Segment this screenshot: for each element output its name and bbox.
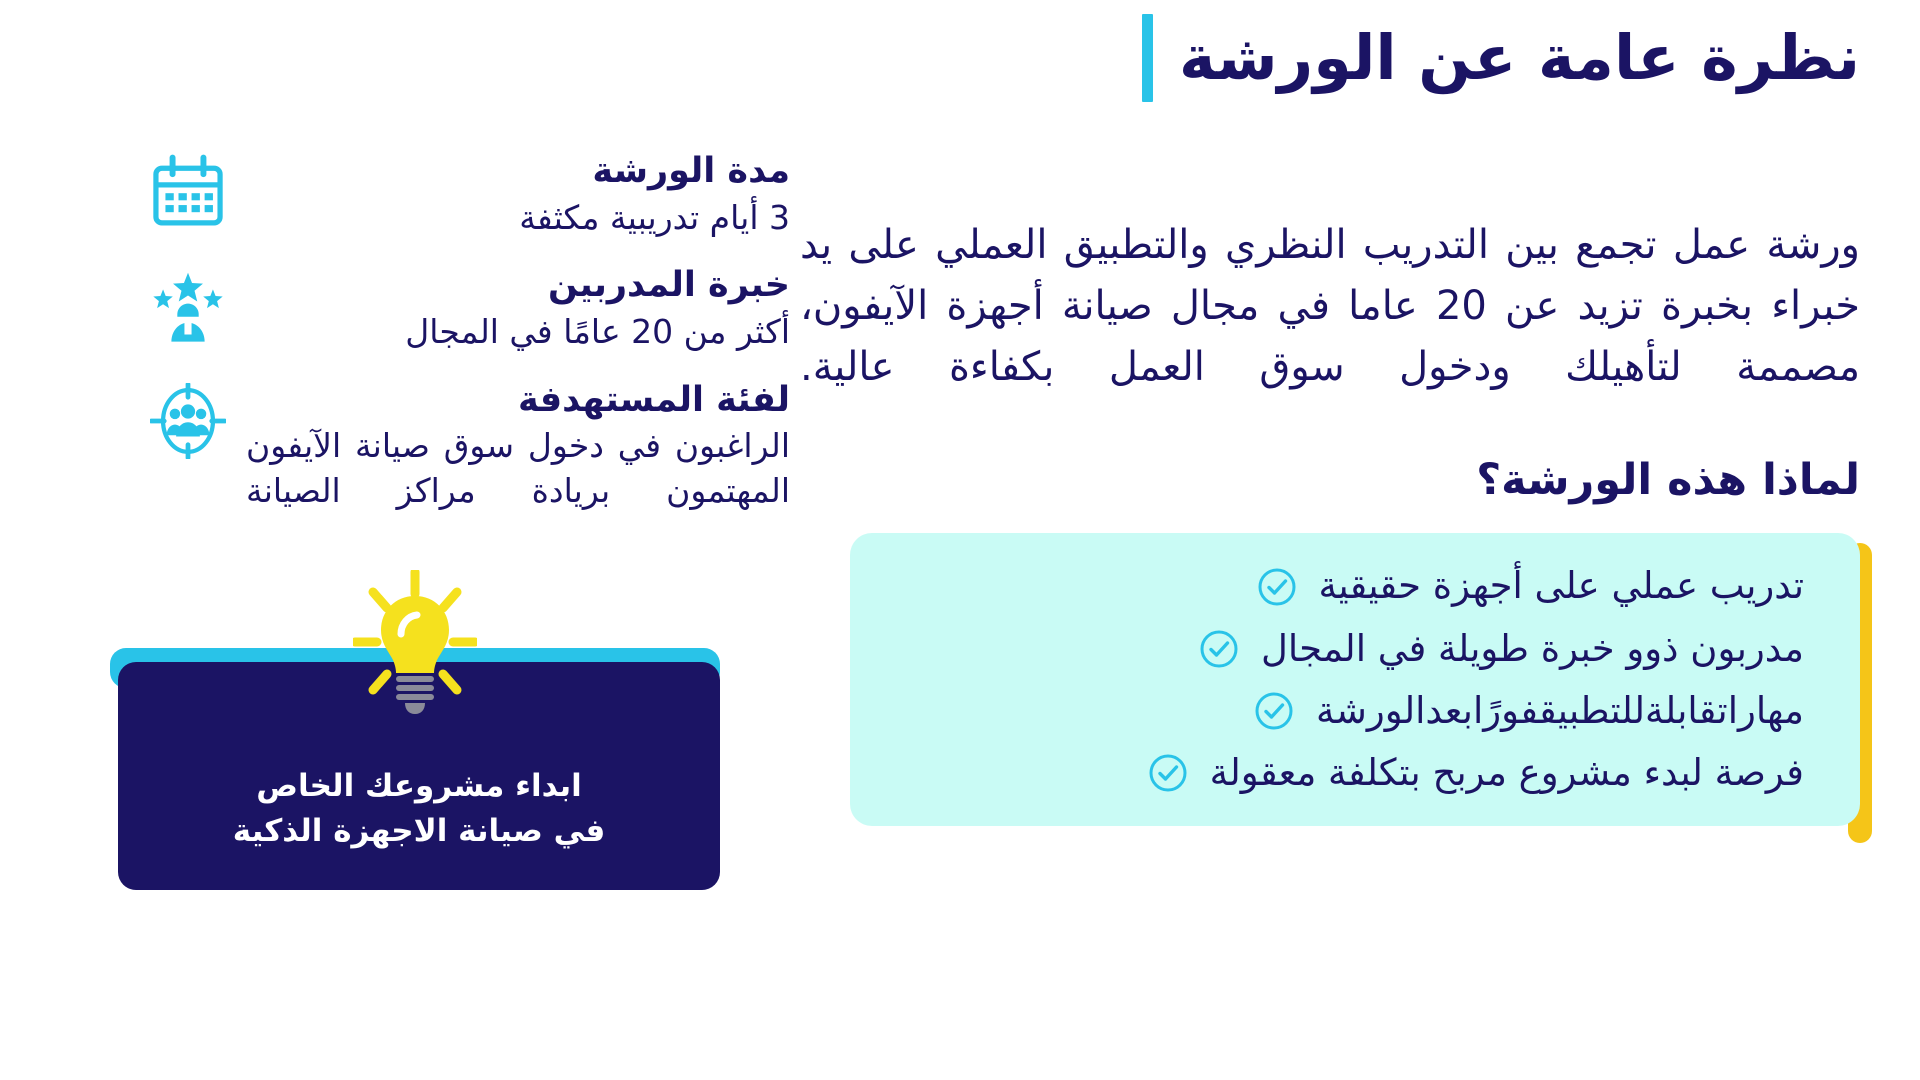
slide-root: نظرة عامة عن الورشة ورشة عمل تجمع بين ال… bbox=[0, 0, 1920, 1080]
cta-line-2: في صيانة الاجهزة الذكية bbox=[233, 809, 605, 854]
benefit-item: مهاراتقابلةللتطبيقفورًابعدالورشة bbox=[890, 688, 1804, 734]
page-title: نظرة عامة عن الورشة bbox=[1179, 25, 1860, 90]
benefit-item: مدربون ذوو خبرة طويلة في المجال bbox=[890, 626, 1804, 672]
feature-body: مدة الورشة 3 أيام تدريبية مكثفة bbox=[246, 150, 790, 240]
benefit-label: فرصة لبدء مشروع مربح بتكلفة معقولة bbox=[1210, 750, 1804, 796]
slide-header: نظرة عامة عن الورشة bbox=[1142, 14, 1860, 102]
benefit-item: تدريب عملي على أجهزة حقيقية bbox=[890, 563, 1804, 609]
benefit-label: مهاراتقابلةللتطبيقفورًابعدالورشة bbox=[1316, 688, 1804, 734]
overview-column: ورشة عمل تجمع بين التدريب النظري والتطبي… bbox=[800, 175, 1860, 826]
benefits-card: تدريب عملي على أجهزة حقيقية مدربون ذوو خ… bbox=[850, 533, 1860, 826]
feature-desc: الراغبون في دخول سوق صيانة الآيفون المهت… bbox=[246, 424, 790, 513]
feature-desc: أكثر من 20 عامًا في المجال bbox=[246, 310, 790, 355]
feature-target-audience: لفئة المستهدفة الراغبون في دخول سوق صيان… bbox=[150, 379, 790, 514]
features-column: مدة الورشة 3 أيام تدريبية مكثفة خبرة الم… bbox=[150, 150, 790, 513]
target-audience-icon bbox=[150, 383, 226, 459]
feature-body: لفئة المستهدفة الراغبون في دخول سوق صيان… bbox=[246, 379, 790, 514]
lightbulb-icon bbox=[353, 570, 477, 722]
feature-duration: مدة الورشة 3 أيام تدريبية مكثفة bbox=[150, 150, 790, 240]
benefits-card-wrapper: تدريب عملي على أجهزة حقيقية مدربون ذوو خ… bbox=[850, 533, 1860, 826]
feature-body: خبرة المدربين أكثر من 20 عامًا في المجال bbox=[246, 264, 790, 354]
cta-badge: ابداء مشروعك الخاص في صيانة الاجهزة الذك… bbox=[110, 630, 720, 890]
circle-check-icon bbox=[1257, 567, 1297, 607]
title-accent-bar bbox=[1142, 14, 1153, 102]
calendar-icon bbox=[150, 154, 226, 230]
feature-title: خبرة المدربين bbox=[246, 264, 790, 308]
feature-trainer-experience: خبرة المدربين أكثر من 20 عامًا في المجال bbox=[150, 264, 790, 354]
cta-line-1: ابداء مشروعك الخاص bbox=[256, 764, 582, 809]
why-workshop-heading: لماذا هذه الورشة؟ bbox=[800, 455, 1860, 505]
feature-title: لفئة المستهدفة bbox=[246, 379, 790, 423]
circle-check-icon bbox=[1254, 691, 1294, 731]
benefit-item: فرصة لبدء مشروع مربح بتكلفة معقولة bbox=[890, 750, 1804, 796]
circle-check-icon bbox=[1199, 629, 1239, 669]
expert-stars-icon bbox=[150, 268, 226, 344]
benefit-label: تدريب عملي على أجهزة حقيقية bbox=[1319, 563, 1804, 609]
feature-desc: 3 أيام تدريبية مكثفة bbox=[246, 196, 790, 241]
intro-paragraph: ورشة عمل تجمع بين التدريب النظري والتطبي… bbox=[800, 215, 1860, 397]
circle-check-icon bbox=[1148, 753, 1188, 793]
benefit-label: مدربون ذوو خبرة طويلة في المجال bbox=[1261, 626, 1804, 672]
feature-title: مدة الورشة bbox=[246, 150, 790, 194]
